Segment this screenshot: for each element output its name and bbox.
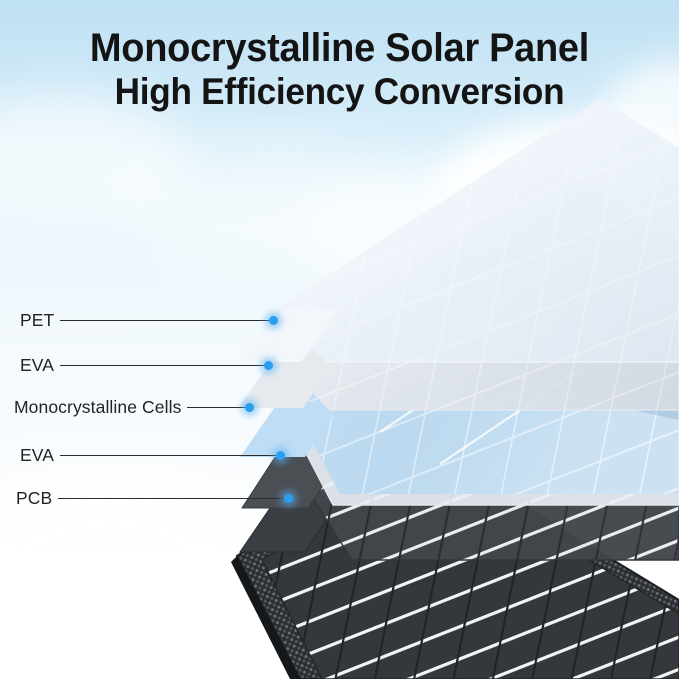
callout-endpoint-dot: [269, 316, 278, 325]
callout-monocrystalline-cells: Monocrystalline Cells: [14, 395, 254, 419]
callout-endpoint-dot: [264, 361, 273, 370]
solar-panel-infographic: Monocrystalline Solar Panel High Efficie…: [0, 0, 679, 679]
callout-pet: PET: [20, 308, 278, 332]
callout-leader-line: [58, 498, 286, 499]
callout-leader-line: [187, 407, 247, 408]
callout-eva-bottom: EVA: [20, 443, 285, 467]
callout-leader-line: [60, 365, 266, 366]
callout-leader-line: [60, 320, 271, 321]
callout-endpoint-dot: [276, 451, 285, 460]
callout-label-eva-top: EVA: [20, 355, 54, 376]
callout-eva-top: EVA: [20, 353, 273, 377]
callout-endpoint-dot: [245, 403, 254, 412]
callout-pcb: PCB: [16, 486, 293, 510]
callout-label-monocrystalline-cells: Monocrystalline Cells: [14, 397, 181, 418]
callout-label-pcb: PCB: [16, 488, 52, 509]
callout-group: PET EVA Monocrystalline Cells EVA PCB: [0, 0, 679, 679]
callout-label-eva-bottom: EVA: [20, 445, 54, 466]
callout-endpoint-dot: [284, 494, 293, 503]
callout-leader-line: [60, 455, 278, 456]
callout-label-pet: PET: [20, 310, 54, 331]
